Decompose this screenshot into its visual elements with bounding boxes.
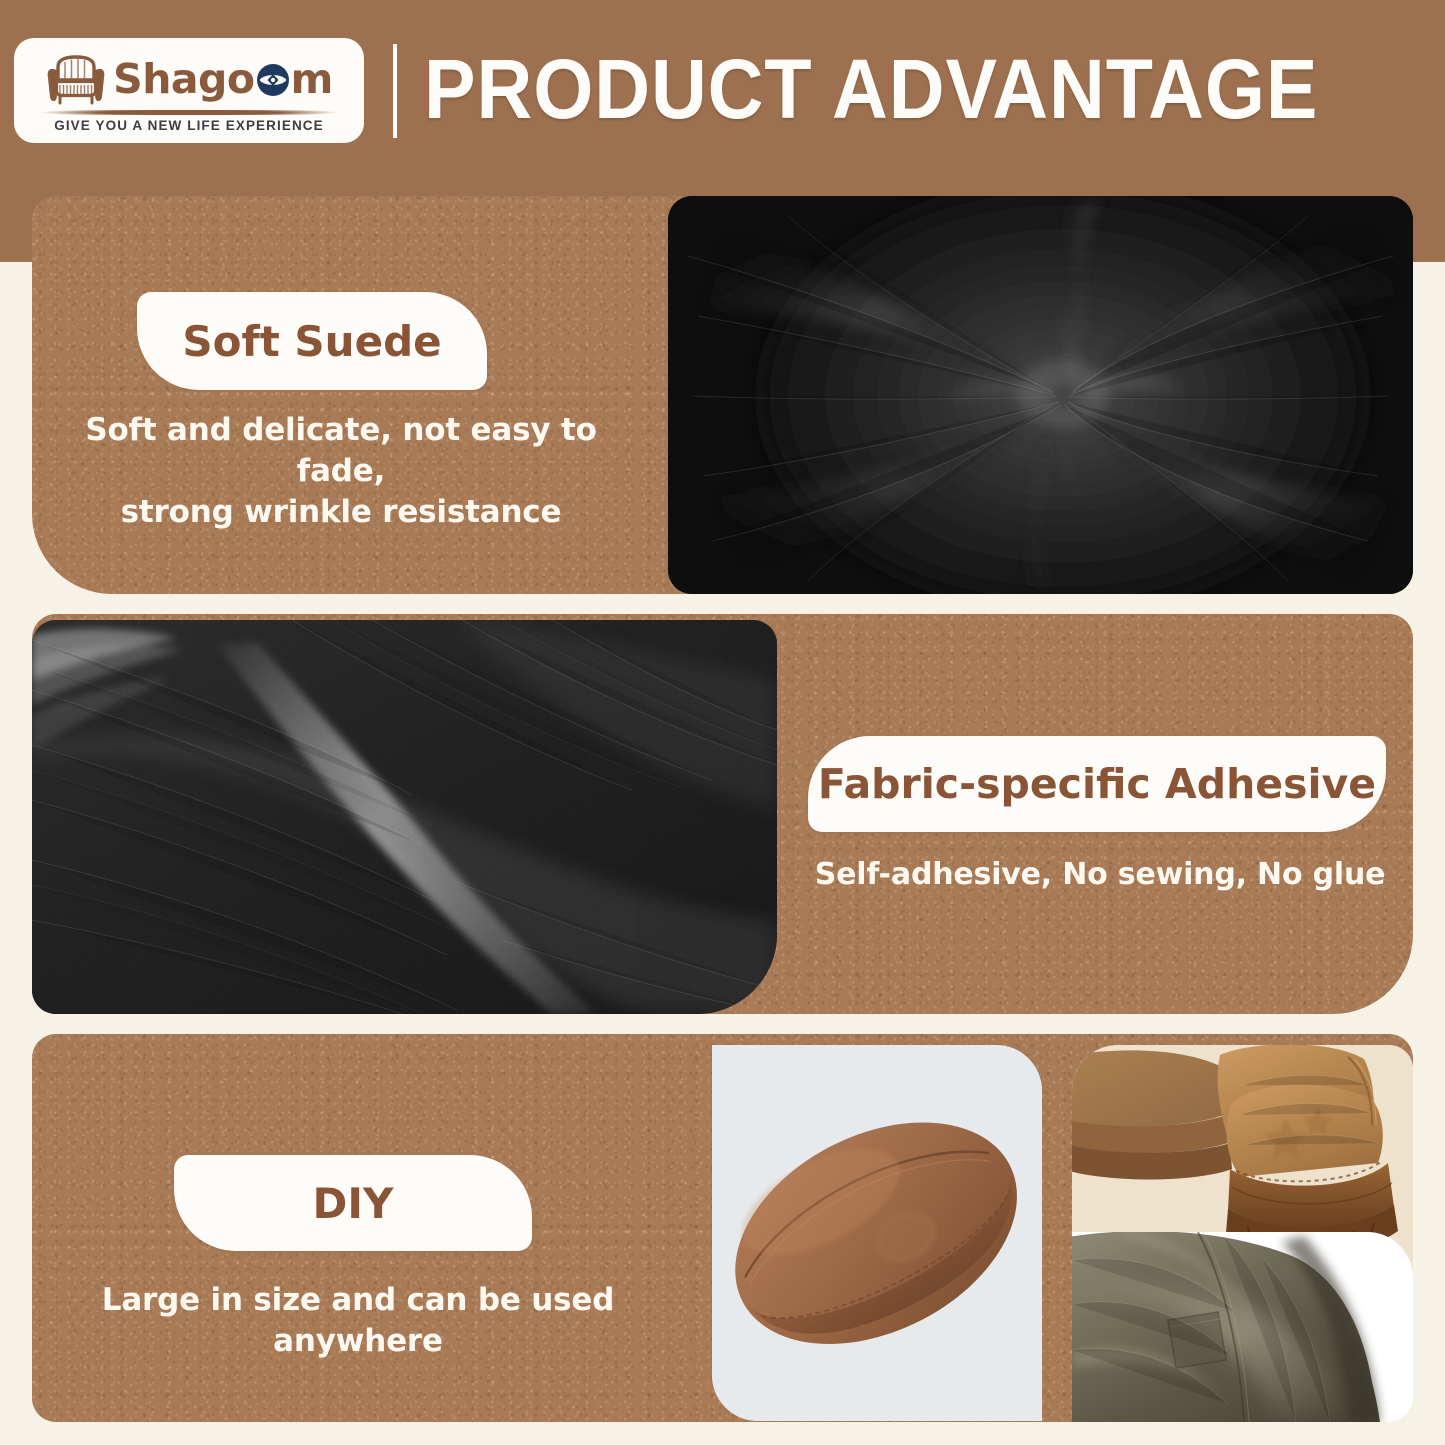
feature-description-line: Soft and delicate, not easy to fade, bbox=[41, 410, 641, 492]
brand-logo-card: Shago m GIVE YOU A NEW LIFE EXPERIENCE bbox=[14, 38, 364, 143]
wordmark-part-1: Shag bbox=[113, 59, 227, 100]
feature-label-soft-suede: Soft Suede bbox=[137, 292, 487, 390]
product-advantage-infographic: Shago m GIVE YOU A NEW LIFE EXPERIENCE P… bbox=[0, 0, 1445, 1445]
brand-eye-mark-icon bbox=[256, 63, 290, 97]
wordmark-part-2: o bbox=[227, 59, 255, 100]
wordmark-part-3: m bbox=[291, 59, 333, 100]
feature-label-diy: DIY bbox=[174, 1155, 532, 1251]
image-brown-suede-flat-cap bbox=[712, 1045, 1042, 1421]
feature-label-fabric-specific-adhesive: Fabric-specific Adhesive bbox=[808, 736, 1386, 832]
feature-description-soft-suede: Soft and delicate, not easy to fade, str… bbox=[41, 410, 641, 534]
feature-description-fabric-specific-adhesive: Self-adhesive, No sewing, No glue bbox=[800, 855, 1400, 895]
brand-tagline: GIVE YOU A NEW LIFE EXPERIENCE bbox=[54, 118, 324, 133]
logo-underline-rule bbox=[39, 110, 339, 115]
brand-logo-row: Shago m bbox=[24, 51, 354, 109]
feature-description-line: strong wrinkle resistance bbox=[41, 492, 641, 533]
image-black-suede-fabric-swirl bbox=[668, 196, 1413, 594]
armchair-icon bbox=[45, 53, 107, 107]
image-olive-suede-garment bbox=[1072, 1232, 1413, 1422]
image-dark-velvet-fabric-closeup bbox=[32, 620, 777, 1014]
header-divider bbox=[393, 44, 397, 138]
page-title: PRODUCT ADVANTAGE bbox=[424, 36, 1318, 142]
brand-wordmark: Shago m bbox=[113, 59, 333, 100]
feature-description-diy: Large in size and can be used anywhere bbox=[33, 1280, 683, 1362]
